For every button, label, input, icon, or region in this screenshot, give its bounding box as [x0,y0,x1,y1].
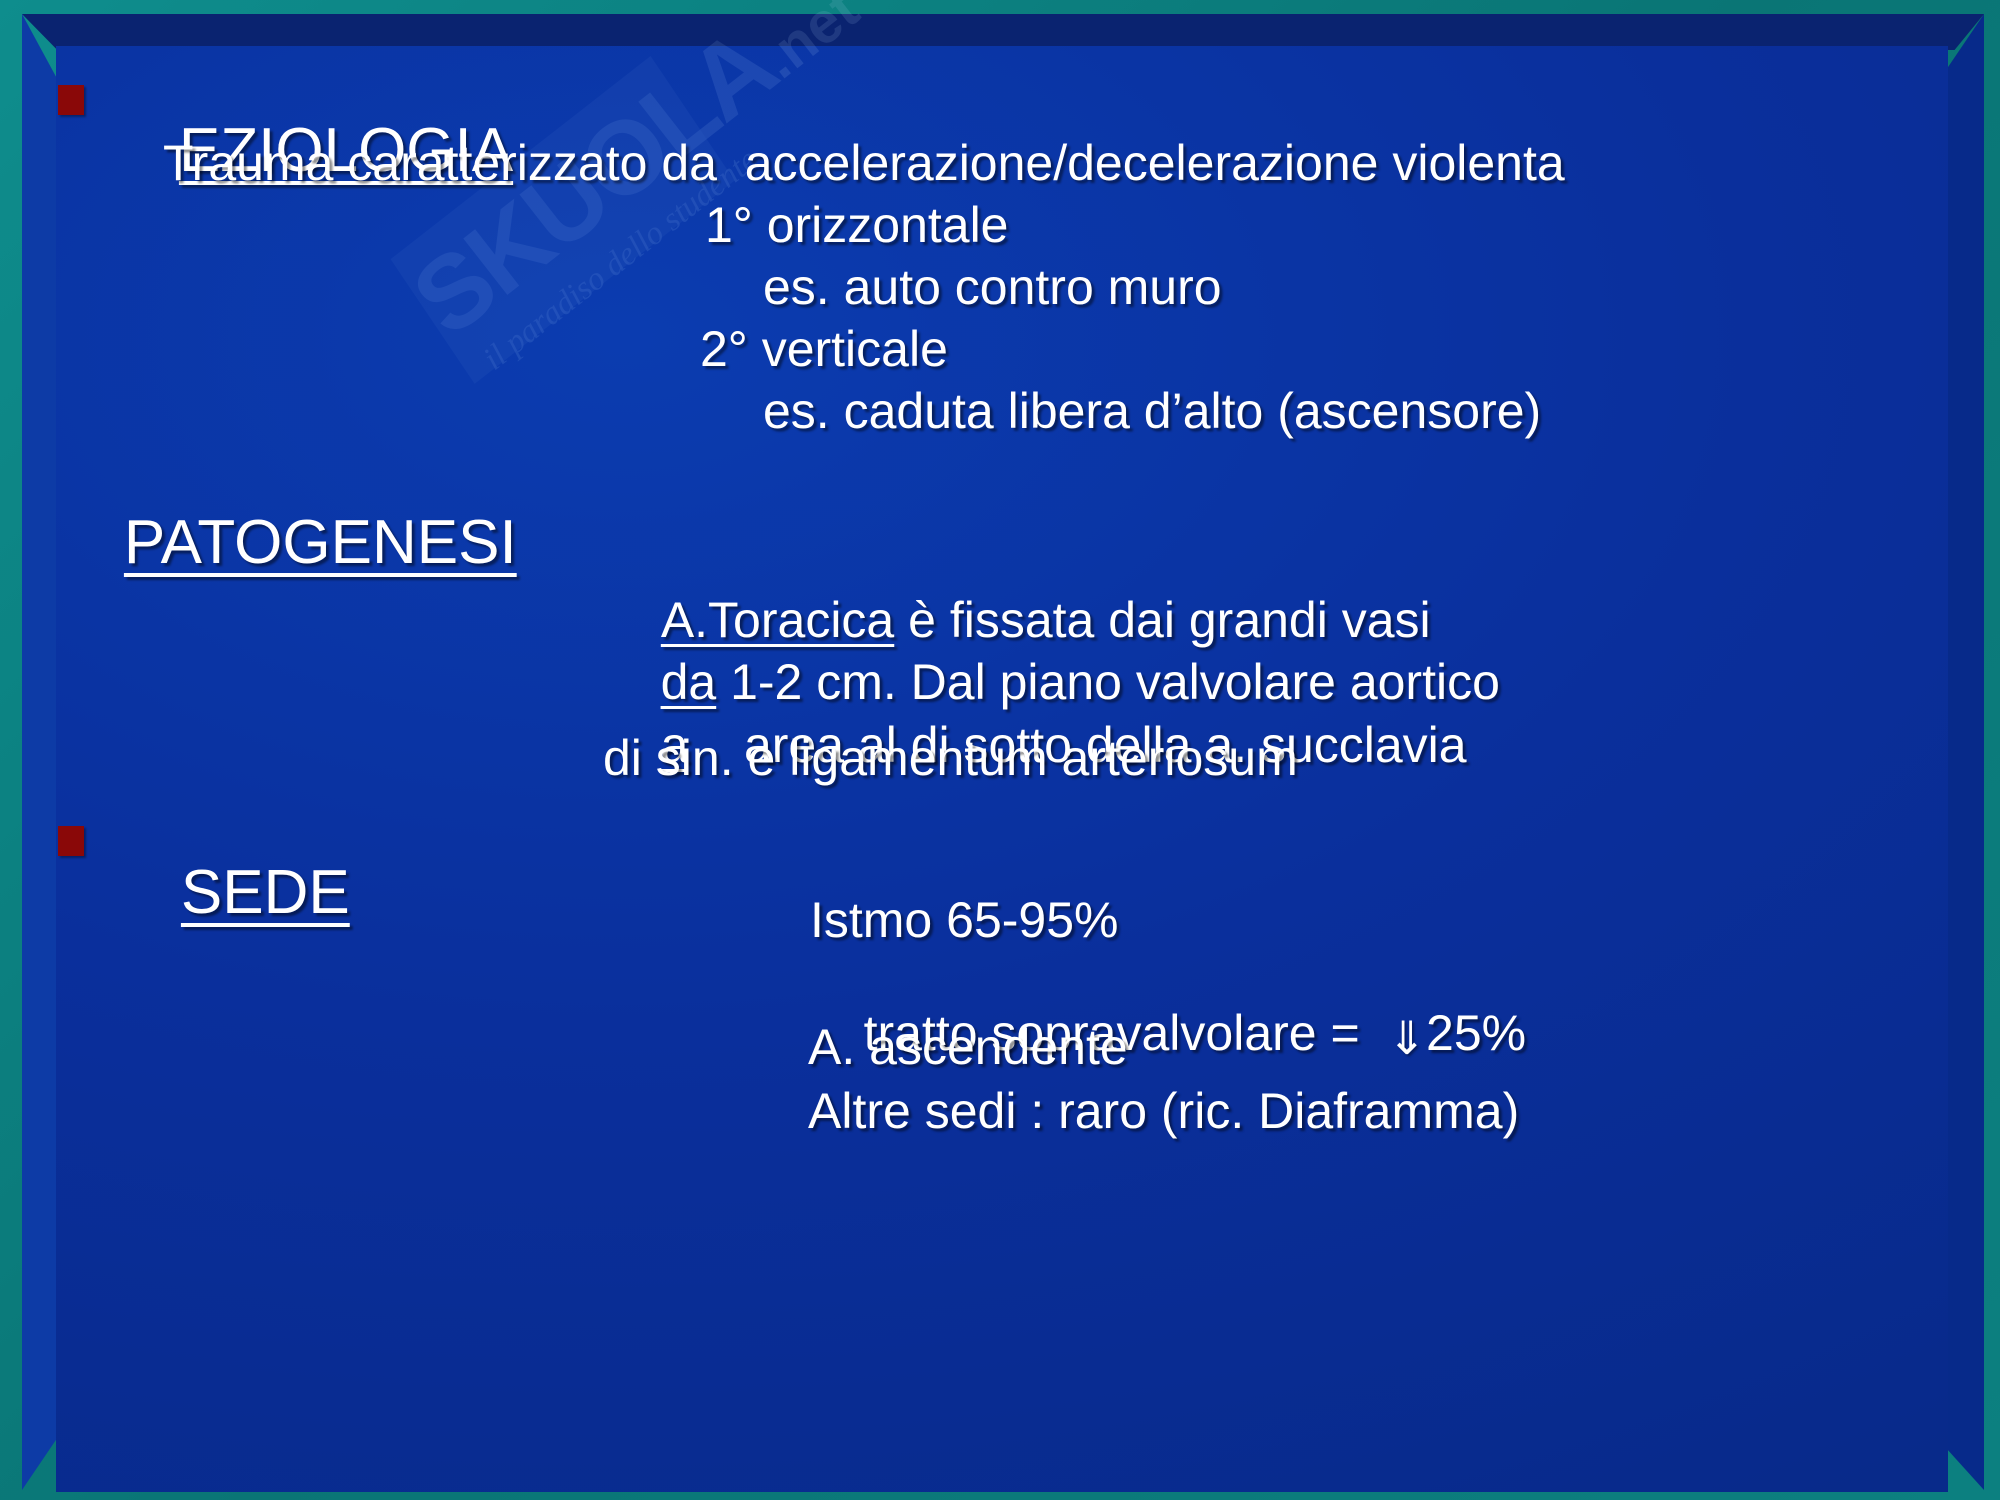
bullet-sede [58,826,84,856]
sede-line-2-suffix: 25% [1426,1005,1526,1061]
down-arrow-icon: ⇓ [1387,1020,1426,1057]
bullet-eziologia [58,85,84,115]
sede-line-4: Altre sedi : raro (ric. Diaframma) [808,1086,1519,1136]
eziologia-line-4: 2° verticale [700,324,948,374]
heading-sede-label: SEDE [181,858,350,927]
heading-sede: SEDE [112,800,350,986]
slide-bevel-top [22,14,1984,50]
eziologia-line-2: 1° orizzontale [705,200,1009,250]
sede-line-1: Istmo 65-95% [810,895,1118,945]
eziologia-line-5: es. caduta libera d’alto (ascensore) [763,386,1541,436]
sede-line-3: A. ascendente [808,1022,1128,1072]
eziologia-line-1: Trauma caratterizzato da accelerazione/d… [163,138,1565,188]
presentation-slide: SKUOLA.net il paradiso dello studente EZ… [0,0,2000,1500]
heading-patogenesi: PATOGENESI [55,450,517,636]
eziologia-line-3: es. auto contro muro [763,262,1222,312]
heading-patogenesi-label: PATOGENESI [124,508,517,577]
patogenesi-line-4: di sin. e ligamentum arteriosum [603,733,1298,783]
slide-bevel-right [1944,14,1984,1490]
